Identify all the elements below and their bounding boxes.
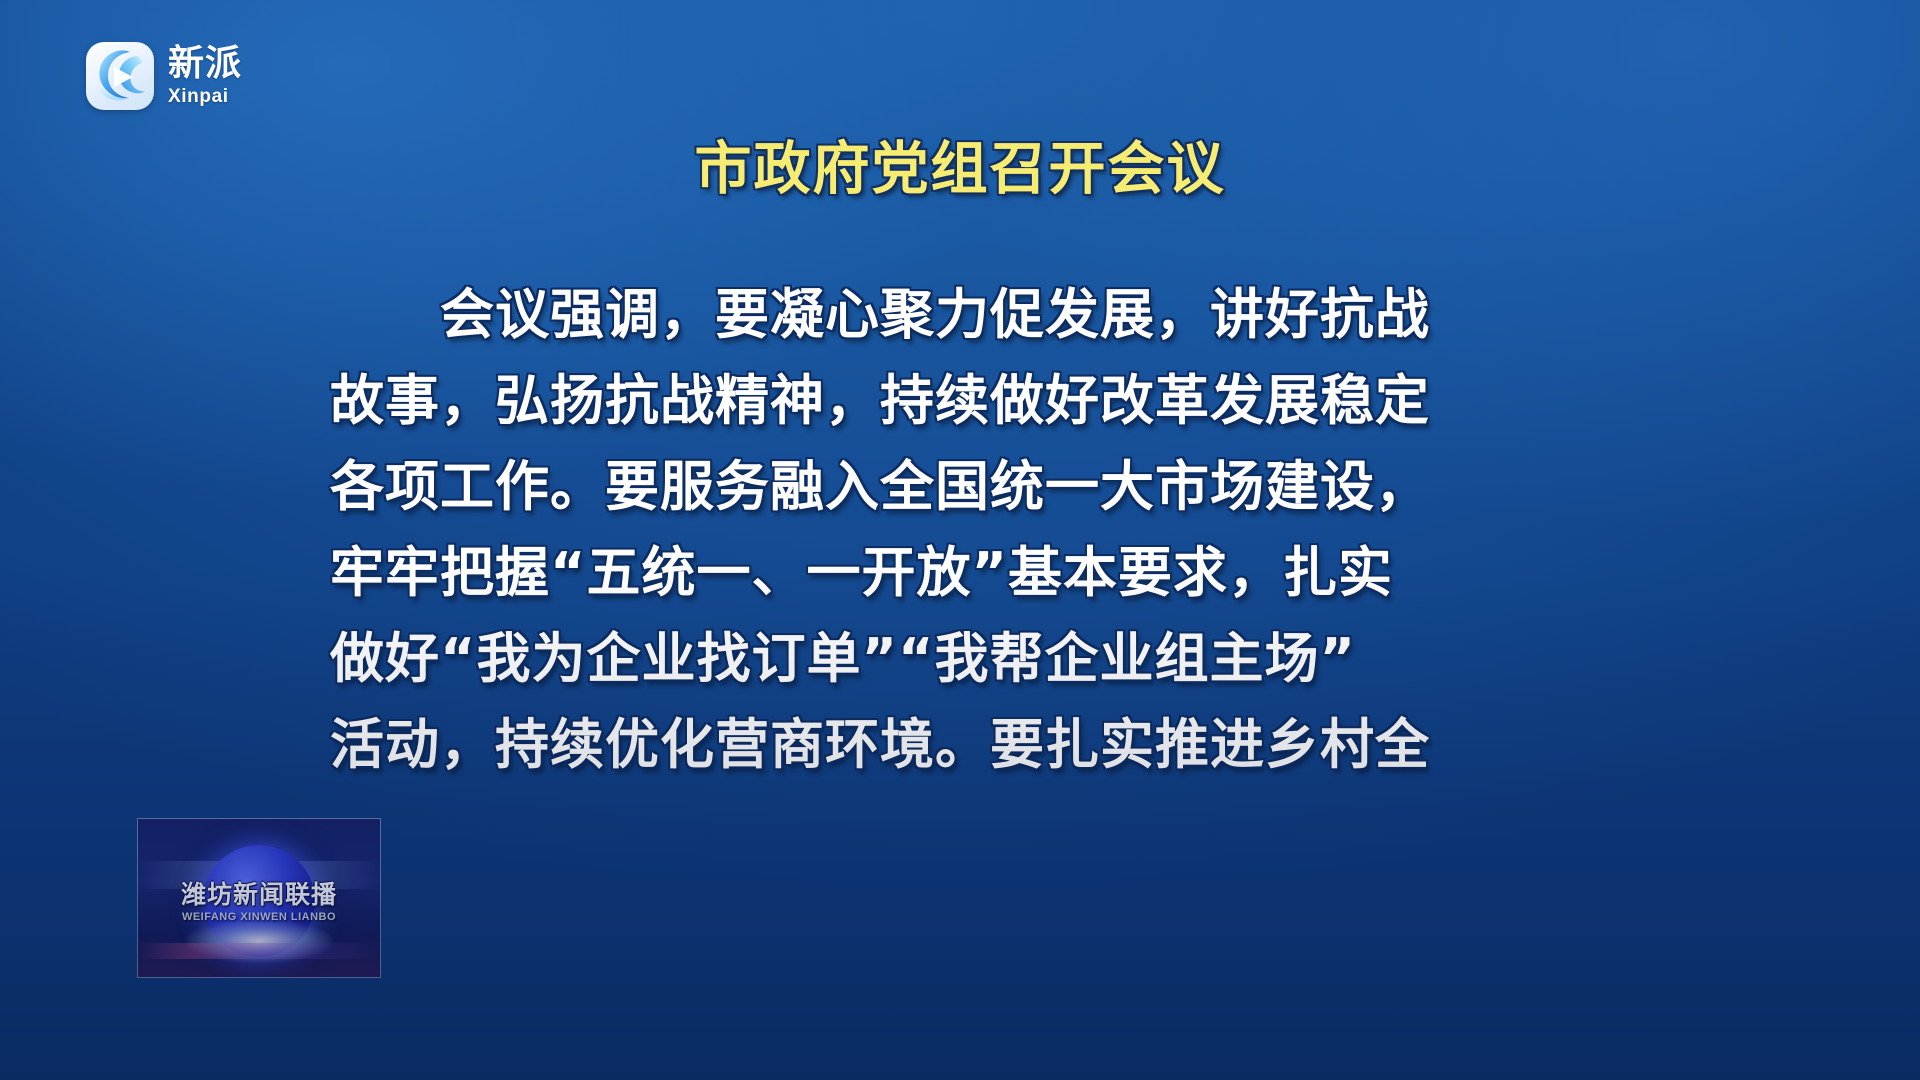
- brand-text: 新派 Xinpai: [168, 46, 242, 106]
- body-line: 会议强调，要凝心聚力促发展，讲好抗战: [330, 272, 1600, 358]
- brand-name-cn: 新派: [168, 46, 242, 82]
- body-line: 做好“我为企业找订单”“我帮企业组主场”: [330, 616, 1600, 702]
- body-line: 活动，持续优化营商环境。要扎实推进乡村全: [330, 702, 1600, 788]
- program-title-en: WEIFANG XINWEN LIANBO: [138, 911, 380, 923]
- broadcast-slide: 新派 Xinpai 市政府党组召开会议 会议强调，要凝心聚力促发展，讲好抗战 故…: [0, 0, 1920, 1080]
- light-streak-bottom: [138, 943, 380, 959]
- brand-name-en: Xinpai: [168, 87, 242, 106]
- body-copy: 会议强调，要凝心聚力促发展，讲好抗战 故事，弘扬抗战精神，持续做好改革发展稳定 …: [330, 272, 1600, 788]
- page-title: 市政府党组召开会议: [0, 123, 1920, 205]
- play-wave-icon: [86, 42, 154, 110]
- program-watermark: 潍坊新闻联播 WEIFANG XINWEN LIANBO: [137, 818, 381, 978]
- body-line: 牢牢把握“五统一、一开放”基本要求，扎实: [330, 530, 1600, 616]
- program-title-cn: 潍坊新闻联播: [138, 875, 380, 911]
- body-line: 故事，弘扬抗战精神，持续做好改革发展稳定: [330, 358, 1600, 444]
- channel-brand: 新派 Xinpai: [86, 42, 242, 110]
- body-line: 各项工作。要服务融入全国统一大市场建设，: [330, 444, 1600, 530]
